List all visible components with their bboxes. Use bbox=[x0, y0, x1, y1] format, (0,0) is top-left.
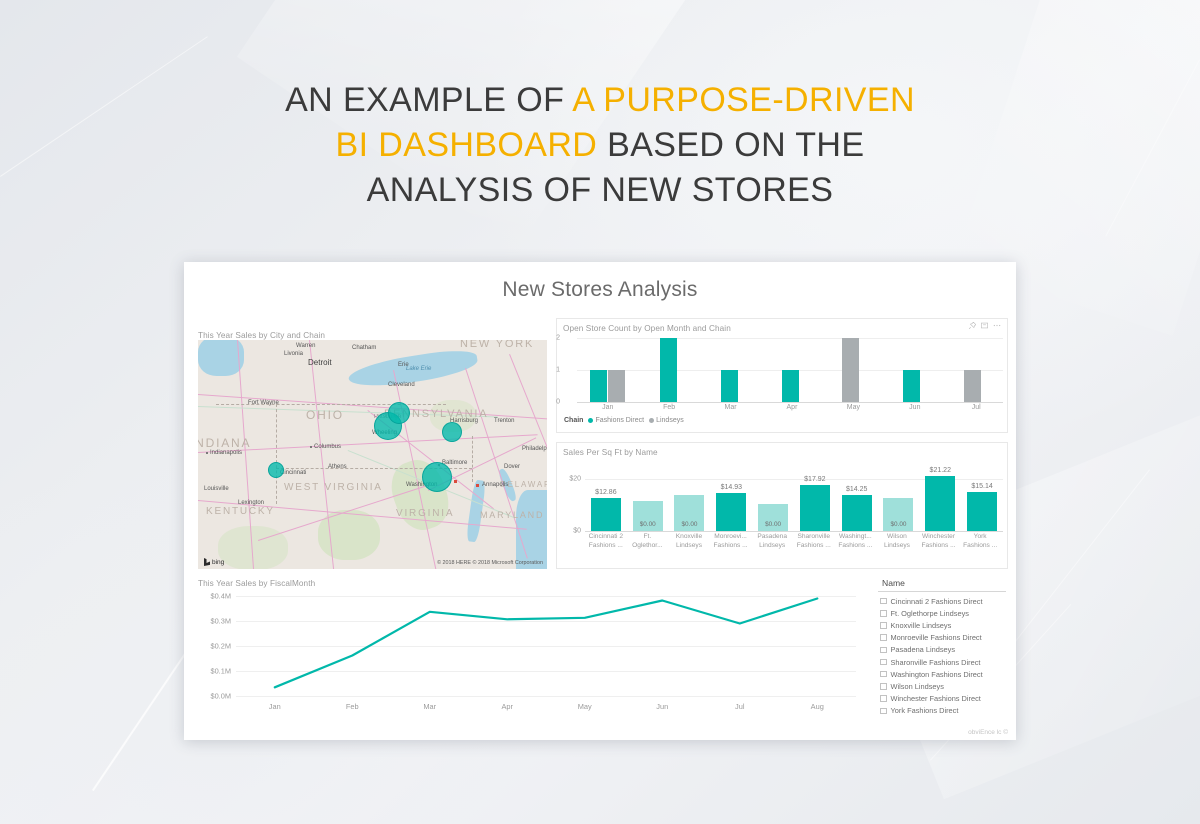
bing-mark-icon bbox=[204, 558, 210, 566]
legend-item-lindseys[interactable]: Lindseys bbox=[649, 417, 684, 424]
slicer-label-8: Winchester Fashions Direct bbox=[891, 694, 981, 703]
bar-group-may[interactable] bbox=[820, 338, 881, 402]
sales-per-sqft-plot: $20 $0 $12.86 $0.00 $0.00 bbox=[585, 479, 1003, 531]
sqft-xtick-1-line2: Oglethor... bbox=[627, 542, 669, 551]
map-city-columbus: Columbus bbox=[314, 444, 341, 450]
slicer-label-0: Cincinnati 2 Fashions Direct bbox=[891, 597, 983, 606]
line-xtick-jan: Jan bbox=[236, 702, 314, 711]
map-city-chatham: Chatham bbox=[352, 345, 376, 351]
sqft-xtick-1-line1: Ft. bbox=[627, 533, 669, 542]
map-label-lake-erie: Lake Erie bbox=[406, 366, 431, 372]
sqft-label-9: $15.14 bbox=[971, 483, 992, 490]
open-store-count-title: Open Store Count by Open Month and Chain bbox=[557, 319, 1007, 333]
map-state-kentucky: KENTUCKY bbox=[206, 506, 275, 517]
map-bubble-wheeling-b[interactable] bbox=[388, 402, 410, 424]
bing-label: bing bbox=[212, 559, 224, 566]
slicer-label-9: York Fashions Direct bbox=[891, 706, 959, 715]
slicer-item-0[interactable]: Cincinnati 2 Fashions Direct bbox=[880, 595, 1008, 607]
headline-line-2-highlight: BI DASHBOARD bbox=[336, 126, 598, 164]
sales-per-sqft-title: Sales Per Sq Ft by Name bbox=[557, 443, 1007, 457]
line-gridline-00 bbox=[236, 696, 856, 697]
slicer-item-6[interactable]: Washington Fashions Direct bbox=[880, 668, 1008, 680]
legend-swatch-fashions-direct-icon bbox=[588, 418, 593, 423]
xtick-feb: Feb bbox=[638, 404, 699, 411]
headline-line-3: ANALYSIS OF NEW STORES bbox=[0, 168, 1200, 213]
headline-line-1-plain: AN EXAMPLE OF bbox=[285, 81, 572, 119]
focus-mode-icon[interactable] bbox=[981, 322, 988, 329]
sqft-label-0: $12.86 bbox=[595, 489, 616, 496]
map-state-new-york: NEW YORK bbox=[460, 340, 534, 350]
line-chart-plot: $0.4M $0.3M $0.2M $0.1M $0.0M bbox=[236, 596, 856, 696]
map-canvas[interactable]: OHIO PENNSYLVANIA INDIANA WEST VIRGINIA … bbox=[198, 340, 547, 569]
checkbox-icon-4[interactable] bbox=[880, 647, 887, 654]
map-state-indiana: INDIANA bbox=[198, 436, 251, 450]
map-state-ohio: OHIO bbox=[306, 408, 344, 422]
line-xtick-may: May bbox=[546, 702, 624, 711]
line-xtick-apr: Apr bbox=[469, 702, 547, 711]
sqft-col-4[interactable]: $0.00 bbox=[752, 479, 794, 531]
gridline-0 bbox=[577, 402, 1003, 403]
sqft-xtick-2-line2: Lindseys bbox=[668, 542, 710, 551]
map-city-dover: Dover bbox=[504, 464, 520, 470]
sqft-xtick-6-line2: Fashions ... bbox=[835, 542, 877, 551]
map-city-fort-wayne: Fort Wayne bbox=[248, 400, 279, 406]
sqft-bar-sharonville[interactable]: $17.92 bbox=[800, 485, 830, 531]
line-xtick-mar: Mar bbox=[391, 702, 469, 711]
ytick-0: 0 bbox=[556, 399, 560, 406]
headline-line-1: AN EXAMPLE OF A PURPOSE-DRIVEN bbox=[0, 78, 1200, 123]
map-city-dot-indianapolis bbox=[206, 452, 208, 454]
sqft-xtick-7-line1: Wilson bbox=[876, 533, 918, 542]
sqft-bar-wilson[interactable]: $0.00 bbox=[883, 498, 913, 531]
checkbox-icon-7[interactable] bbox=[880, 683, 887, 690]
checkbox-icon-8[interactable] bbox=[880, 695, 887, 702]
headline-line-1-highlight: A PURPOSE-DRIVEN bbox=[572, 81, 915, 119]
sqft-bar-cincinnati-2[interactable]: $12.86 bbox=[591, 498, 621, 531]
sqft-ytick-0: $0 bbox=[573, 528, 581, 535]
bar-apr-fashions-direct[interactable] bbox=[782, 370, 799, 402]
line-xtick-jul: Jul bbox=[701, 702, 779, 711]
line-ytick-1: $0.1M bbox=[210, 667, 231, 676]
sqft-bar-ft-oglethorpe[interactable]: $0.00 bbox=[633, 501, 663, 531]
sqft-xtick-6-line1: Washingt... bbox=[835, 533, 877, 542]
sqft-xtick-6: Washingt... Fashions ... bbox=[835, 533, 877, 551]
line-ytick-3: $0.3M bbox=[210, 617, 231, 626]
sqft-col-0[interactable]: $12.86 bbox=[585, 479, 627, 531]
slicer-item-8[interactable]: Winchester Fashions Direct bbox=[880, 693, 1008, 705]
name-slicer[interactable]: Name Cincinnati 2 Fashions Direct Ft. Og… bbox=[876, 574, 1008, 726]
headline-line-2: BI DASHBOARD BASED ON THE bbox=[0, 123, 1200, 168]
sqft-bar-pasadena[interactable]: $0.00 bbox=[758, 504, 788, 531]
slicer-label-1: Ft. Oglethorpe Lindseys bbox=[891, 609, 969, 618]
slicer-label-6: Washington Fashions Direct bbox=[891, 670, 983, 679]
bar-group-apr[interactable] bbox=[760, 338, 821, 402]
report-canvas: New Stores Analysis This Year Sales by C… bbox=[184, 262, 1016, 740]
slicer-label-3: Monroeville Fashions Direct bbox=[891, 633, 982, 642]
map-city-dot-columbus bbox=[310, 446, 312, 448]
xtick-mar: Mar bbox=[700, 404, 761, 411]
sqft-label-4: $0.00 bbox=[765, 521, 781, 528]
sqft-xtick-3-line1: Monroevi... bbox=[710, 533, 752, 542]
sales-per-sqft-categories: Cincinnati 2 Fashions ... Ft. Oglethor..… bbox=[585, 533, 1001, 551]
sqft-bar-knoxville[interactable]: $0.00 bbox=[674, 495, 704, 531]
line-ytick-4: $0.4M bbox=[210, 592, 231, 601]
line-xtick-feb: Feb bbox=[314, 702, 392, 711]
chain-legend: Chain Fashions Direct Lindseys bbox=[564, 417, 684, 424]
map-boundary-2 bbox=[276, 404, 277, 504]
map-state-maryland: MARYLAND bbox=[480, 510, 544, 520]
line-chart-categories: Jan Feb Mar Apr May Jun Jul Aug bbox=[236, 702, 856, 711]
bar-groups bbox=[577, 338, 1003, 402]
map-bubble-cincinnati[interactable] bbox=[268, 462, 284, 478]
bar-group-mar[interactable] bbox=[699, 338, 760, 402]
map-bubble-harrisburg[interactable] bbox=[442, 422, 462, 442]
sqft-xtick-8: Winchester Fashions ... bbox=[918, 533, 960, 551]
sqft-label-5: $17.92 bbox=[804, 476, 825, 483]
slicer-list[interactable]: Cincinnati 2 Fashions Direct Ft. Ogletho… bbox=[876, 592, 1008, 717]
sqft-label-6: $14.25 bbox=[846, 486, 867, 493]
map-city-warren: Warren bbox=[296, 343, 315, 349]
line-ytick-0: $0.0M bbox=[210, 692, 231, 701]
slicer-label-4: Pasadena Lindseys bbox=[891, 645, 956, 654]
legend-label-lindseys: Lindseys bbox=[656, 417, 684, 424]
sqft-xtick-5: Sharonville Fashions ... bbox=[793, 533, 835, 551]
map-boundary-4 bbox=[472, 436, 473, 482]
sqft-xtick-2: Knoxville Lindseys bbox=[668, 533, 710, 551]
bing-logo: bing bbox=[204, 558, 224, 566]
legend-item-fashions-direct[interactable]: Fashions Direct bbox=[588, 417, 644, 424]
slicer-item-5[interactable]: Sharonville Fashions Direct bbox=[880, 656, 1008, 668]
sqft-bar-york[interactable]: $15.14 bbox=[967, 492, 997, 531]
map-state-west-virginia: WEST VIRGINIA bbox=[284, 482, 383, 493]
checkbox-icon-6[interactable] bbox=[880, 671, 887, 678]
sqft-col-8[interactable]: $21.22 bbox=[919, 479, 961, 531]
sqft-col-5[interactable]: $17.92 bbox=[794, 479, 836, 531]
map-attribution: © 2018 HERE © 2018 Microsoft Corporation bbox=[437, 560, 543, 566]
map-city-dot-washington bbox=[454, 480, 457, 483]
sqft-col-3[interactable]: $14.93 bbox=[710, 479, 752, 531]
sqft-label-8: $21.22 bbox=[930, 467, 951, 474]
map-city-detroit: Detroit bbox=[308, 358, 332, 367]
sqft-xtick-3-line2: Fashions ... bbox=[710, 542, 752, 551]
xtick-jun: Jun bbox=[884, 404, 945, 411]
sales-by-fiscal-month-chart[interactable]: This Year Sales by FiscalMonth $0.4M $0.… bbox=[192, 574, 868, 726]
xtick-jan: Jan bbox=[577, 404, 638, 411]
sqft-xtick-0-line1: Cincinnati 2 bbox=[585, 533, 627, 542]
sqft-xtick-4-line1: Pasadena bbox=[751, 533, 793, 542]
line-xtick-jun: Jun bbox=[624, 702, 702, 711]
slicer-item-7[interactable]: Wilson Lindseys bbox=[880, 680, 1008, 692]
sqft-gridline-0 bbox=[585, 531, 1003, 532]
sqft-col-6[interactable]: $14.25 bbox=[836, 479, 878, 531]
sqft-xtick-9: York Fashions ... bbox=[959, 533, 1001, 551]
legend-label-fashions-direct: Fashions Direct bbox=[595, 417, 644, 424]
ytick-1: 1 bbox=[556, 367, 560, 374]
open-store-count-plot: 2 1 0 bbox=[563, 338, 1003, 402]
sqft-xtick-3: Monroevi... Fashions ... bbox=[710, 533, 752, 551]
map-visual-title: This Year Sales by City and Chain bbox=[192, 326, 548, 340]
map-visual[interactable]: This Year Sales by City and Chain bbox=[192, 326, 548, 569]
slicer-item-2[interactable]: Knoxville Lindseys bbox=[880, 619, 1008, 631]
sqft-xtick-1: Ft. Oglethor... bbox=[627, 533, 669, 551]
bar-feb-fashions-direct[interactable] bbox=[660, 338, 677, 402]
bar-group-jun[interactable] bbox=[881, 338, 942, 402]
slicer-item-1[interactable]: Ft. Oglethorpe Lindseys bbox=[880, 607, 1008, 619]
sales-trend-line[interactable] bbox=[236, 596, 856, 696]
slicer-item-9[interactable]: York Fashions Direct bbox=[880, 705, 1008, 717]
sqft-bars: $12.86 $0.00 $0.00 $14.93 bbox=[585, 479, 1003, 531]
slicer-title: Name bbox=[878, 574, 1006, 592]
map-city-cleveland: Cleveland bbox=[388, 382, 415, 388]
bar-jan-lindseys[interactable] bbox=[608, 370, 625, 402]
map-city-indianapolis: Indianapolis bbox=[210, 450, 242, 456]
slicer-item-3[interactable]: Monroeville Fashions Direct bbox=[880, 632, 1008, 644]
sqft-xtick-0-line2: Fashions ... bbox=[585, 542, 627, 551]
map-city-athens: Athens bbox=[328, 464, 347, 470]
sqft-xtick-7-line2: Lindseys bbox=[876, 542, 918, 551]
map-city-annapolis: Annapolis bbox=[482, 482, 508, 488]
checkbox-icon-3[interactable] bbox=[880, 634, 887, 641]
line-ytick-2: $0.2M bbox=[210, 642, 231, 651]
sqft-xtick-5-line2: Fashions ... bbox=[793, 542, 835, 551]
report-credit: obviEnce lc © bbox=[968, 729, 1008, 736]
legend-title: Chain bbox=[564, 417, 583, 424]
bar-group-feb[interactable] bbox=[638, 338, 699, 402]
sqft-xtick-4: Pasadena Lindseys bbox=[751, 533, 793, 551]
more-options-icon[interactable] bbox=[993, 322, 1001, 329]
legend-swatch-lindseys-icon bbox=[649, 418, 654, 423]
sqft-label-2: $0.00 bbox=[681, 521, 697, 528]
map-city-louisville: Louisville bbox=[204, 486, 229, 492]
map-bubble-washington[interactable] bbox=[422, 462, 452, 492]
slicer-label-2: Knoxville Lindseys bbox=[891, 621, 952, 630]
map-city-trenton: Trenton bbox=[494, 418, 514, 424]
map-water-atlantic bbox=[516, 490, 547, 569]
sqft-bar-winchester[interactable]: $21.22 bbox=[925, 476, 955, 531]
slicer-item-4[interactable]: Pasadena Lindseys bbox=[880, 644, 1008, 656]
sqft-ytick-20: $20 bbox=[569, 476, 581, 483]
xtick-jul: Jul bbox=[946, 404, 1007, 411]
open-store-count-categories: Jan Feb Mar Apr May Jun Jul bbox=[577, 404, 1007, 411]
sales-by-fiscal-month-title: This Year Sales by FiscalMonth bbox=[192, 574, 868, 588]
page-title: AN EXAMPLE OF A PURPOSE-DRIVEN BI DASHBO… bbox=[0, 78, 1200, 214]
map-city-lexington: Lexington bbox=[238, 500, 264, 506]
ytick-2: 2 bbox=[556, 335, 560, 342]
map-city-cincinnati: Cincinnati bbox=[280, 470, 306, 476]
sqft-bar-monroeville[interactable]: $14.93 bbox=[716, 493, 746, 531]
bar-group-jul[interactable] bbox=[942, 338, 1003, 402]
map-city-erie: Erie bbox=[398, 362, 409, 368]
sqft-col-9[interactable]: $15.14 bbox=[961, 479, 1003, 531]
sqft-label-1: $0.00 bbox=[640, 521, 656, 528]
visual-header-icons[interactable] bbox=[969, 322, 1001, 329]
bar-jun-fashions-direct[interactable] bbox=[903, 370, 920, 402]
map-city-livonia: Livonia bbox=[284, 351, 303, 357]
sqft-bar-washington[interactable]: $14.25 bbox=[842, 495, 872, 531]
sqft-xtick-8-line2: Fashions ... bbox=[918, 542, 960, 551]
checkbox-icon-1[interactable] bbox=[880, 610, 887, 617]
sqft-xtick-9-line1: York bbox=[959, 533, 1001, 542]
bar-group-jan[interactable] bbox=[577, 338, 638, 402]
sqft-col-7[interactable]: $0.00 bbox=[878, 479, 920, 531]
bar-jan-fashions-direct[interactable] bbox=[590, 370, 607, 402]
sqft-xtick-0: Cincinnati 2 Fashions ... bbox=[585, 533, 627, 551]
report-title: New Stores Analysis bbox=[184, 278, 1016, 302]
xtick-may: May bbox=[823, 404, 884, 411]
checkbox-icon-2[interactable] bbox=[880, 622, 887, 629]
map-city-philadelphia: Philadelphia bbox=[522, 446, 547, 452]
sqft-xtick-4-line2: Lindseys bbox=[751, 542, 793, 551]
map-city-dot-annapolis bbox=[476, 484, 479, 487]
headline-line-2-plain: BASED ON THE bbox=[597, 126, 864, 164]
sqft-xtick-2-line1: Knoxville bbox=[668, 533, 710, 542]
sqft-xtick-7: Wilson Lindseys bbox=[876, 533, 918, 551]
sqft-label-3: $14.93 bbox=[721, 484, 742, 491]
sqft-col-2[interactable]: $0.00 bbox=[669, 479, 711, 531]
bar-jul-lindseys[interactable] bbox=[964, 370, 981, 402]
bar-may-lindseys[interactable] bbox=[842, 338, 859, 402]
line-xtick-aug: Aug bbox=[779, 702, 857, 711]
sales-per-sqft-chart[interactable]: Sales Per Sq Ft by Name $20 $0 $12.86 $0… bbox=[556, 442, 1008, 569]
checkbox-icon-9[interactable] bbox=[880, 708, 887, 715]
slicer-label-7: Wilson Lindseys bbox=[891, 682, 944, 691]
checkbox-icon-0[interactable] bbox=[880, 598, 887, 605]
slicer-label-5: Sharonville Fashions Direct bbox=[891, 658, 981, 667]
sqft-col-1[interactable]: $0.00 bbox=[627, 479, 669, 531]
sqft-xtick-5-line1: Sharonville bbox=[793, 533, 835, 542]
open-store-count-chart[interactable]: Open Store Count by Open Month and Chain… bbox=[556, 318, 1008, 433]
sqft-xtick-9-line2: Fashions ... bbox=[959, 542, 1001, 551]
pin-icon[interactable] bbox=[969, 322, 976, 329]
bar-mar-fashions-direct[interactable] bbox=[721, 370, 738, 402]
sqft-xtick-8-line1: Winchester bbox=[918, 533, 960, 542]
sqft-label-7: $0.00 bbox=[890, 521, 906, 528]
map-state-virginia: VIRGINIA bbox=[396, 508, 454, 519]
xtick-apr: Apr bbox=[761, 404, 822, 411]
checkbox-icon-5[interactable] bbox=[880, 659, 887, 666]
